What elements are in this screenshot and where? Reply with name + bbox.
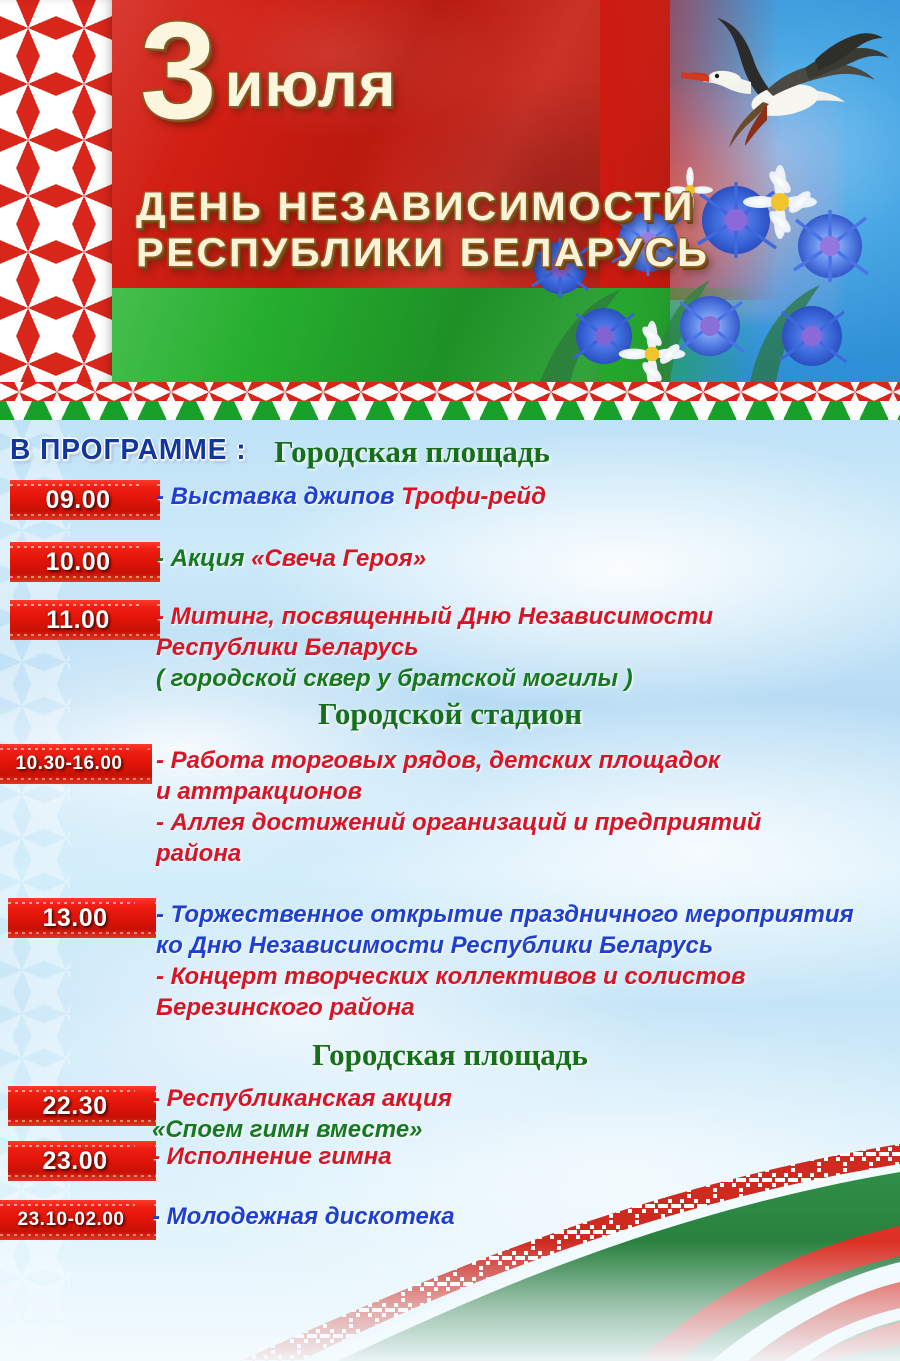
month-name: июля — [225, 54, 397, 137]
time-ribbon: 10.30-16.00 — [0, 744, 152, 784]
event-line: - Торжественное открытие праздничного ме… — [156, 900, 854, 931]
stork-icon — [655, 8, 890, 168]
event-line: района — [156, 839, 241, 870]
event-text-segment: «Свеча Героя» — [251, 545, 426, 572]
event-text-segment: - Аллея достижений организаций и предпри… — [156, 809, 761, 836]
event-text-segment: - Выставка джипов — [156, 483, 401, 510]
event-text-segment: - Работа торговых рядов, детских площадо… — [156, 747, 720, 774]
ornament-divider — [0, 382, 900, 420]
ribbon-notch-icon — [135, 898, 157, 938]
time-label: 11.00 — [46, 606, 124, 635]
time-label: 13.00 — [42, 904, 121, 933]
event-text-segment: - Акция — [156, 545, 251, 572]
poster-header: 3 июля ДЕНЬ НЕЗАВИСИМОСТИ РЕСПУБЛИКИ БЕЛ… — [0, 0, 900, 382]
event-line: - Республиканская акция — [152, 1084, 452, 1115]
event-text-segment: - Торжественное открытие праздничного ме… — [156, 901, 854, 928]
event-text-segment: ко Дню Независимости Республики Беларусь — [156, 932, 713, 959]
event-line: - Работа торговых рядов, детских площадо… — [156, 746, 720, 777]
event-text-segment: - Концерт творческих коллективов и солис… — [156, 963, 746, 990]
time-label: 10.00 — [45, 548, 124, 577]
title-line-1: ДЕНЬ НЕЗАВИСИМОСТИ — [136, 185, 864, 231]
event-text-segment: и аттракционов — [156, 778, 362, 805]
day-number: 3 — [140, 6, 215, 137]
event-line: и аттракционов — [156, 777, 362, 808]
event-line: Березинского района — [156, 993, 415, 1024]
time-ribbon: 09.00 — [10, 480, 160, 520]
time-ribbon: 13.00 — [8, 898, 156, 938]
event-text-segment: «Споем гимн вместе» — [152, 1116, 423, 1143]
section-heading-3: Городская площадь — [0, 1037, 900, 1073]
event-line: - Концерт творческих коллективов и солис… — [156, 962, 746, 993]
section-heading-2: Городской стадион — [0, 696, 900, 732]
date-title: 3 июля — [140, 6, 397, 137]
time-ribbon: 22.30 — [8, 1086, 156, 1126]
event-text-segment: Трофи-рейд — [401, 483, 546, 510]
page-title: ДЕНЬ НЕЗАВИСИМОСТИ РЕСПУБЛИКИ БЕЛАРУСЬ — [136, 185, 836, 276]
belarus-ornament-icon — [0, 0, 112, 382]
event-line: ко Дню Независимости Республики Беларусь — [156, 931, 713, 962]
event-line: - Аллея достижений организаций и предпри… — [156, 808, 761, 839]
event-text-segment: района — [156, 840, 241, 867]
event-line: - Акция «Свеча Героя» — [156, 544, 426, 575]
time-label: 09.00 — [45, 486, 124, 515]
time-ribbon: 10.00 — [10, 542, 160, 582]
event-text-segment: ( городской сквер у братской могилы ) — [156, 665, 633, 692]
event-text-segment: Республики Беларусь — [156, 634, 419, 661]
event-line: - Митинг, посвященный Дню Независимости — [156, 602, 713, 633]
event-line: ( городской сквер у братской могилы ) — [156, 664, 633, 695]
poster: 3 июля ДЕНЬ НЕЗАВИСИМОСТИ РЕСПУБЛИКИ БЕЛ… — [0, 0, 900, 1361]
event-text-segment: - Республиканская акция — [152, 1085, 452, 1112]
time-label: 22.30 — [42, 1092, 121, 1121]
time-ribbon: 11.00 — [10, 600, 160, 640]
title-line-2: РЕСПУБЛИКИ БЕЛАРУСЬ — [136, 231, 864, 277]
section-heading-1: Городская площадь — [0, 434, 862, 470]
event-line: - Выставка джипов Трофи-рейд — [156, 482, 546, 513]
event-text-segment: - Митинг, посвященный Дню Независимости — [156, 603, 713, 630]
event-text-segment: Березинского района — [156, 994, 415, 1021]
time-label: 10.30-16.00 — [16, 753, 137, 775]
event-line: Республики Беларусь — [156, 633, 419, 664]
flag-ribbon-decoration — [0, 1140, 900, 1361]
